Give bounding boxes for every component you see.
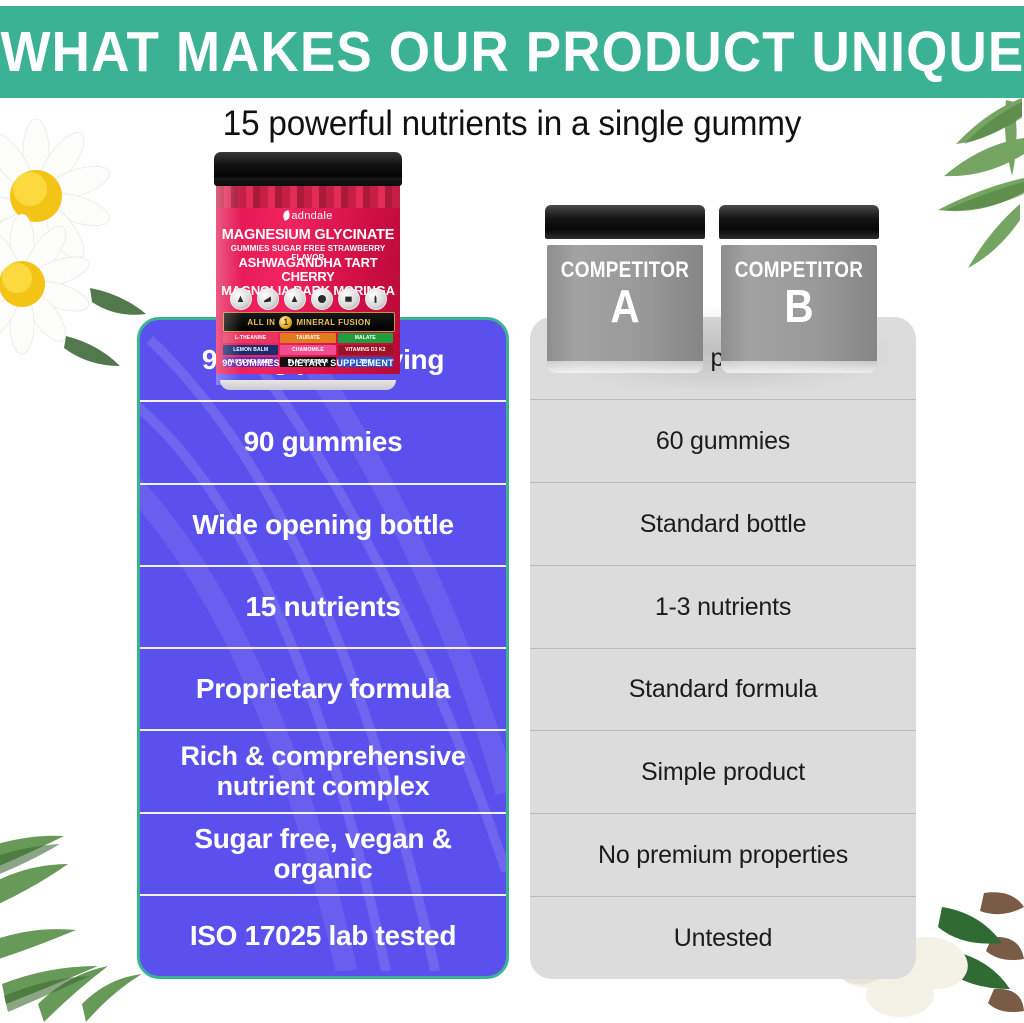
certification-badge-icon [338,288,360,310]
bottle-lid [214,152,402,186]
table-row: Standard bottle [530,483,916,566]
ours-cell: Sugar free, vegan & organic [140,824,506,884]
page-title: WHAT MAKES OUR PRODUCT UNIQUE [0,24,1024,81]
ours-cell: ISO 17025 lab tested [182,921,464,951]
ingredient-chip: TAURATE [280,333,335,343]
leaf-cluster-svg [0,760,160,1023]
table-row: Rich & comprehensive nutrient complex [140,731,506,813]
table-row: Standard formula [530,649,916,732]
certification-badges [216,288,400,310]
jar-lid [545,205,705,239]
ours-cell: 90 gummies [236,427,411,457]
certification-badge-icon [230,288,252,310]
competitor-comparison-panel: <600mg per serving 60 gummies Standard b… [530,317,916,979]
infographic-canvas: WHAT MAKES OUR PRODUCT UNIQUE 15 powerfu… [0,0,1024,1023]
ingredient-chip: CHAMOMILE [280,345,335,355]
bottle-gummies [216,185,400,209]
table-row: ISO 17025 lab tested [140,896,506,976]
competitor-letter: A [555,283,696,329]
herbs-line-1: ASHWAGANDHA TART CHERRY [216,256,400,284]
competitor-cell: No premium properties [590,841,856,869]
certification-badge-icon [284,288,306,310]
certification-badge-icon [257,288,279,310]
ours-cell: Rich & comprehensive nutrient complex [140,741,506,801]
gummy-count: 90 GUMMIES [222,358,280,368]
competitor-rows: <600mg per serving 60 gummies Standard b… [530,317,916,979]
mineral-fusion-banner: ALL IN 1 MINERAL FUSION [223,312,395,332]
table-row: 15 nutrients [140,567,506,649]
table-row: No premium properties [530,814,916,897]
header-band: WHAT MAKES OUR PRODUCT UNIQUE [0,6,1024,98]
competitor-cell: Standard bottle [632,510,815,538]
bottle-base [220,380,396,390]
brand-name: adndale [291,210,332,222]
page-subtitle: 15 powerful nutrients in a single gummy [26,104,999,144]
table-row: Sugar free, vegan & organic [140,814,506,896]
competitor-cell: Standard formula [621,675,826,703]
competitor-cell: 60 gummies [648,427,798,455]
table-row: Wide opening bottle [140,485,506,567]
brand-row: adndale [216,210,400,222]
ours-cell: Wide opening bottle [184,510,462,540]
ours-cell: 15 nutrients [237,592,408,622]
table-row: Untested [530,897,916,979]
bottle-label: adndale MAGNESIUM GLYCINATE GUMMIES SUGA… [216,208,400,374]
certification-badge-icon [311,288,333,310]
medal-icon: 1 [279,316,292,329]
fusion-left-text: ALL IN [247,318,275,327]
table-row: Proprietary formula [140,649,506,731]
ingredient-chip: LEMON BALM [223,345,278,355]
product-title: MAGNESIUM GLYCINATE [219,226,397,243]
competitor-cell: 1-3 nutrients [647,593,799,621]
table-row: Simple product [530,731,916,814]
competitor-cell: Simple product [633,758,813,786]
ingredient-chip: VITAMINS D3 K2 [338,345,393,355]
our-product-comparison-panel: 964mg per serving 90 gummies Wide openin… [137,317,509,979]
competitor-jar-b: COMPETITOR B [719,205,879,385]
decor-bottom-left-leaves [0,760,160,1023]
jar-lid [719,205,879,239]
fusion-right-text: MINERAL FUSION [296,318,370,327]
table-row: 90 gummies [140,402,506,484]
competitor-jar-a: COMPETITOR A [545,205,705,385]
ingredient-chip: MALATE [338,333,393,343]
our-product-rows: 964mg per serving 90 gummies Wide openin… [140,320,506,976]
ingredient-chip: L-THEANINE [223,333,278,343]
certification-badge-icon [365,288,387,310]
supplement-text: DIETARY SUPPLEMENT [288,358,394,368]
table-row: 1-3 nutrients [530,566,916,649]
table-row: 60 gummies [530,400,916,483]
competitor-cell: Untested [666,924,780,952]
competitor-letter: B [729,283,870,329]
competitor-jars-group: COMPETITOR A COMPETITOR B [545,205,895,390]
label-footer: 90 GUMMIES DIETARY SUPPLEMENT [216,358,400,368]
product-bottle: adndale MAGNESIUM GLYCINATE GUMMIES SUGA… [208,152,408,392]
ours-cell: Proprietary formula [188,674,458,704]
